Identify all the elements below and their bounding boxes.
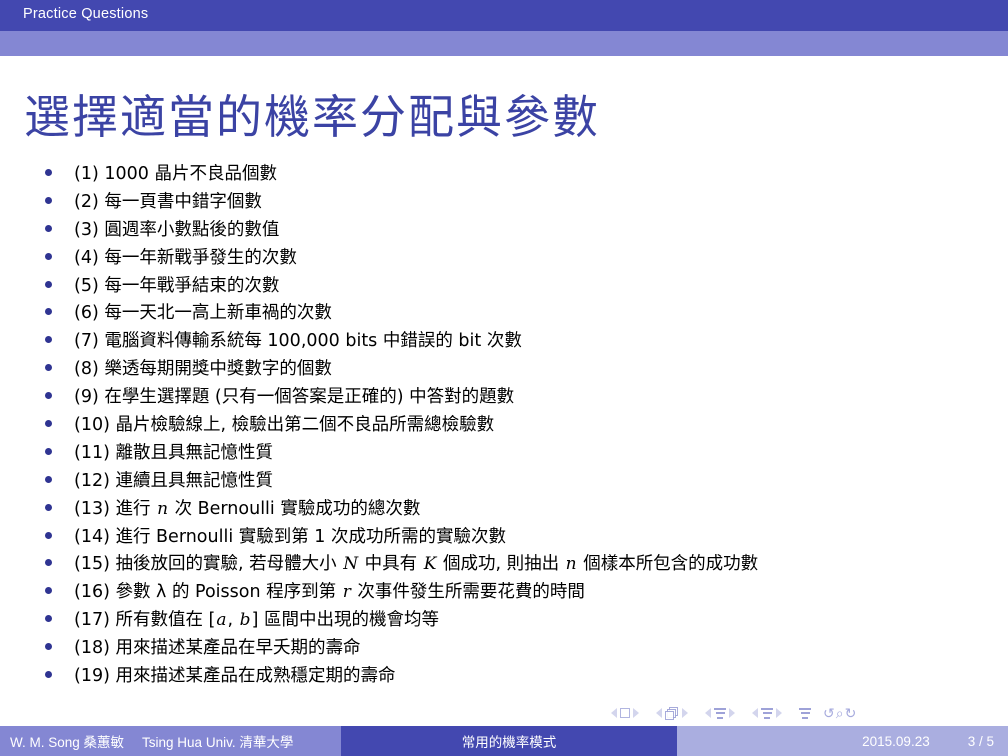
bullet-icon bbox=[45, 197, 52, 204]
list-item-text-part: 中具有 bbox=[359, 554, 423, 574]
header-subsection-bar bbox=[0, 31, 1008, 56]
list-item-label: (3) 圓週率小數點後的數值 bbox=[74, 222, 279, 240]
list-item: (14) 進行 Bernoulli 實驗到第 1 次成功所需的實驗次數 bbox=[45, 529, 985, 557]
footer-bar: W. M. Song 桑蕙敏 Tsing Hua Univ. 清華大學 常用的機… bbox=[0, 726, 1008, 756]
bullet-icon bbox=[45, 392, 52, 399]
math-variable: a bbox=[215, 610, 227, 630]
subsection-navigation-group[interactable] bbox=[705, 708, 735, 719]
list-item: (13) 進行 n 次 Bernoulli 實驗成功的總次數 bbox=[45, 501, 985, 529]
list-item: (4) 每一年新戰爭發生的次數 bbox=[45, 250, 985, 278]
list-item: (16) 參數 λ 的 Poisson 程序到第 r 次事件發生所需要花費的時間 bbox=[45, 584, 985, 612]
list-item-label: (5) 每一年戰爭結束的次數 bbox=[74, 278, 279, 296]
prev-slide-arrow[interactable] bbox=[611, 708, 617, 718]
footer-author: W. M. Song 桑蕙敏 bbox=[10, 731, 124, 751]
list-item-text-part: 次事件發生所需要花費的時間 bbox=[352, 582, 585, 602]
beamer-navigation-bar[interactable]: ↺ ⌕ ↻ bbox=[611, 704, 857, 722]
page-title: 選擇適當的機率分配與參數 bbox=[24, 94, 600, 140]
section-navigation-group[interactable] bbox=[752, 708, 782, 719]
bullet-icon bbox=[45, 336, 52, 343]
prev-subsection-arrow[interactable] bbox=[705, 708, 711, 718]
document-lines-icon[interactable] bbox=[799, 708, 811, 719]
list-item: (17) 所有數值在 [a, b] 區間中出現的機會均等 bbox=[45, 612, 985, 640]
section-lines-icon[interactable] bbox=[761, 708, 773, 719]
next-frame-arrow[interactable] bbox=[682, 708, 688, 718]
bullet-icon bbox=[45, 420, 52, 427]
back-icon[interactable]: ↺ bbox=[823, 706, 836, 720]
list-item: (6) 每一天北一高上新車禍的次數 bbox=[45, 305, 985, 333]
list-item-label: (11) 離散且具無記憶性質 bbox=[74, 445, 273, 463]
math-variable: r bbox=[342, 582, 352, 602]
bullet-icon bbox=[45, 225, 52, 232]
prev-frame-arrow[interactable] bbox=[656, 708, 662, 718]
bullet-icon bbox=[45, 448, 52, 455]
list-item: (8) 樂透每期開獎中獎數字的個數 bbox=[45, 361, 985, 389]
bullet-icon bbox=[45, 587, 52, 594]
bullet-icon bbox=[45, 476, 52, 483]
bullet-icon bbox=[45, 532, 52, 539]
list-item: (5) 每一年戰爭結束的次數 bbox=[45, 278, 985, 306]
list-item: (19) 用來描述某產品在成熟穩定期的壽命 bbox=[45, 668, 985, 696]
list-item-text-part: 次 Bernoulli 實驗成功的總次數 bbox=[169, 499, 420, 519]
list-item-label: (4) 每一年新戰爭發生的次數 bbox=[74, 250, 297, 268]
list-item-label: (17) 所有數值在 [a, b] 區間中出現的機會均等 bbox=[74, 612, 439, 630]
list-item-label: (15) 抽後放回的實驗, 若母體大小 N 中具有 K 個成功, 則抽出 n 個… bbox=[74, 556, 758, 574]
list-item-label: (10) 晶片檢驗線上, 檢驗出第二個不良品所需總檢驗數 bbox=[74, 417, 494, 435]
bullet-icon bbox=[45, 281, 52, 288]
list-item-text-part: 個樣本所包含的成功數 bbox=[578, 554, 759, 574]
list-item-text-part: 個成功, 則抽出 bbox=[437, 554, 564, 574]
bullet-icon bbox=[45, 308, 52, 315]
list-item-label: (13) 進行 n 次 Bernoulli 實驗成功的總次數 bbox=[74, 501, 420, 519]
math-variable: b bbox=[239, 610, 252, 630]
bullet-icon bbox=[45, 615, 52, 622]
question-list: (1) 1000 晶片不良品個數(2) 每一頁書中錯字個數(3) 圓週率小數點後… bbox=[45, 166, 985, 696]
list-item-label: (8) 樂透每期開獎中獎數字的個數 bbox=[74, 361, 332, 379]
list-item: (15) 抽後放回的實驗, 若母體大小 N 中具有 K 個成功, 則抽出 n 個… bbox=[45, 556, 985, 584]
bullet-icon bbox=[45, 169, 52, 176]
list-item-text-part: (13) 進行 bbox=[74, 499, 156, 519]
list-item-label: (1) 1000 晶片不良品個數 bbox=[74, 166, 277, 184]
bullet-icon bbox=[45, 253, 52, 260]
bullet-icon bbox=[45, 643, 52, 650]
footer-institute: Tsing Hua Univ. 清華大學 bbox=[142, 731, 293, 751]
list-item-label: (14) 進行 Bernoulli 實驗到第 1 次成功所需的實驗次數 bbox=[74, 529, 506, 547]
list-item-text-part: , bbox=[228, 610, 239, 630]
forward-icon[interactable]: ↻ bbox=[845, 706, 858, 720]
bullet-icon bbox=[45, 364, 52, 371]
list-item-text-part: ] 區間中出現的機會均等 bbox=[252, 610, 439, 630]
footer-section-title: 常用的機率模式 bbox=[462, 731, 557, 751]
footer-right-block: 2015.09.23 3 / 5 bbox=[677, 726, 1008, 756]
list-item-text-part: (15) 抽後放回的實驗, 若母體大小 bbox=[74, 554, 342, 574]
list-item-label: (7) 電腦資料傳輸系統每 100,000 bits 中錯誤的 bit 次數 bbox=[74, 333, 522, 351]
math-variable: n bbox=[565, 554, 578, 574]
list-item: (2) 每一頁書中錯字個數 bbox=[45, 194, 985, 222]
slide-content: 選擇適當的機率分配與參數 (1) 1000 晶片不良品個數(2) 每一頁書中錯字… bbox=[0, 56, 1008, 726]
footer-page-number: 3 / 5 bbox=[968, 734, 994, 749]
bullet-icon bbox=[45, 671, 52, 678]
header-section-title: Practice Questions bbox=[23, 6, 148, 22]
list-item-label: (9) 在學生選擇題 (只有一個答案是正確的) 中答對的題數 bbox=[74, 389, 514, 407]
list-item-text-part: (17) 所有數值在 [ bbox=[74, 610, 215, 630]
footer-author-block: W. M. Song 桑蕙敏 Tsing Hua Univ. 清華大學 bbox=[0, 726, 341, 756]
slide-square-icon[interactable] bbox=[620, 708, 630, 718]
header-section-bar: Practice Questions bbox=[0, 0, 1008, 31]
list-item-label: (19) 用來描述某產品在成熟穩定期的壽命 bbox=[74, 668, 395, 686]
list-item-label: (18) 用來描述某產品在早夭期的壽命 bbox=[74, 640, 361, 658]
math-variable: K bbox=[423, 554, 438, 574]
list-item: (1) 1000 晶片不良品個數 bbox=[45, 166, 985, 194]
footer-section-block: 常用的機率模式 bbox=[341, 726, 677, 756]
next-section-arrow[interactable] bbox=[776, 708, 782, 718]
bullet-icon bbox=[45, 559, 52, 566]
list-item: (9) 在學生選擇題 (只有一個答案是正確的) 中答對的題數 bbox=[45, 389, 985, 417]
frame-navigation-group[interactable] bbox=[656, 707, 688, 719]
list-item: (12) 連續且具無記憶性質 bbox=[45, 473, 985, 501]
math-variable: N bbox=[342, 554, 359, 574]
list-item: (18) 用來描述某產品在早夭期的壽命 bbox=[45, 640, 985, 668]
list-item: (11) 離散且具無記憶性質 bbox=[45, 445, 985, 473]
list-item-label: (6) 每一天北一高上新車禍的次數 bbox=[74, 305, 332, 323]
search-icon[interactable]: ⌕ bbox=[836, 706, 845, 720]
list-item: (3) 圓週率小數點後的數值 bbox=[45, 222, 985, 250]
subsection-lines-icon[interactable] bbox=[714, 708, 726, 719]
prev-section-arrow[interactable] bbox=[752, 708, 758, 718]
list-item: (7) 電腦資料傳輸系統每 100,000 bits 中錯誤的 bit 次數 bbox=[45, 333, 985, 361]
list-item-label: (16) 參數 λ 的 Poisson 程序到第 r 次事件發生所需要花費的時間 bbox=[74, 584, 585, 602]
list-item: (10) 晶片檢驗線上, 檢驗出第二個不良品所需總檢驗數 bbox=[45, 417, 985, 445]
next-slide-arrow[interactable] bbox=[633, 708, 639, 718]
bullet-icon bbox=[45, 504, 52, 511]
frames-stack-icon[interactable] bbox=[665, 707, 679, 719]
footer-date: 2015.09.23 bbox=[862, 734, 930, 749]
list-item-text-part: (16) 參數 λ 的 Poisson 程序到第 bbox=[74, 582, 342, 602]
slide-navigation-group[interactable] bbox=[611, 708, 639, 718]
list-item-label: (2) 每一頁書中錯字個數 bbox=[74, 194, 262, 212]
next-subsection-arrow[interactable] bbox=[729, 708, 735, 718]
math-variable: n bbox=[156, 499, 169, 519]
list-item-label: (12) 連續且具無記憶性質 bbox=[74, 473, 273, 491]
